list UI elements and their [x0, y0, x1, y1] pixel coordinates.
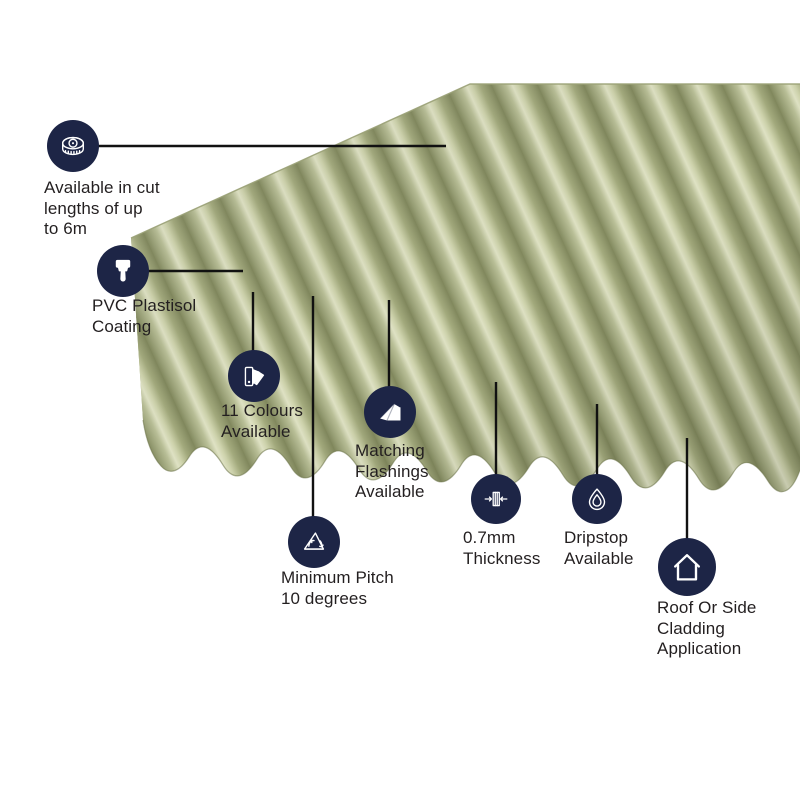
infographic-canvas: Available in cut lengths of up to 6m PVC… [0, 0, 800, 800]
callout-pvc-plastisol-label: PVC Plastisol Coating [92, 296, 282, 337]
colour-fan-deck-icon [228, 350, 280, 402]
callout-cut-lengths-label: Available in cut lengths of up to 6m [44, 178, 244, 240]
callout-cladding-label: Roof Or Side Cladding Application [657, 598, 800, 660]
folded-flashing-icon [364, 386, 416, 438]
water-droplet-icon [572, 474, 622, 524]
tape-measure-icon [47, 120, 99, 172]
thickness-caliper-icon [471, 474, 521, 524]
paint-brush-icon [97, 245, 149, 297]
house-outline-icon [658, 538, 716, 596]
callout-minimum-pitch-label: Minimum Pitch 10 degrees [281, 568, 481, 609]
angle-protractor-icon [288, 516, 340, 568]
